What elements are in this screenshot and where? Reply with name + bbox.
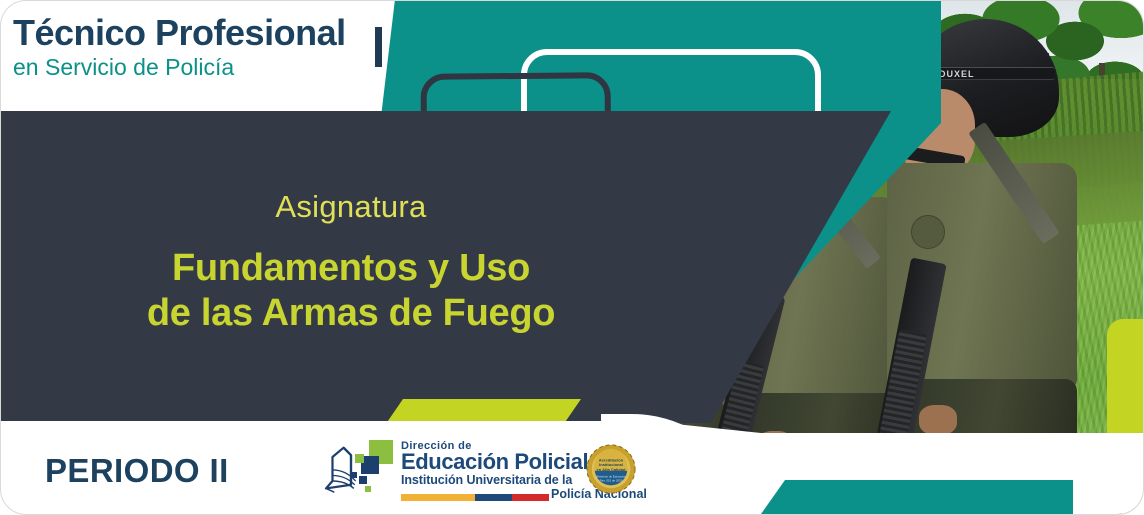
shoulder-patch-front <box>911 215 945 249</box>
hand-front <box>919 405 957 435</box>
program-subtitle: en Servicio de Policía <box>13 54 433 82</box>
logo-square-navy-tiny <box>351 472 357 478</box>
logo-square-lime-mid <box>355 454 364 463</box>
helmet-brand-front: DUXEL <box>939 69 975 79</box>
footer-corner-mask <box>1073 454 1143 514</box>
dep-logo: Dirección de Educación Policial Instituc… <box>323 438 653 500</box>
course-title-line-1: Fundamentos y Uso <box>1 246 701 291</box>
course-title: Fundamentos y Uso de las Armas de Fuego <box>1 246 701 336</box>
period-label: PERIODO II <box>45 452 229 490</box>
accreditation-seal-icon: Acreditación Institucional en Alta Calid… <box>585 442 637 496</box>
svg-text:Res. 015 de 2020: Res. 015 de 2020 <box>600 479 623 483</box>
seal-line-3: en Alta Calidad <box>597 467 627 472</box>
program-title: Técnico Profesional <box>13 15 433 52</box>
course-banner: DUXEL DUXEL <box>0 0 1144 515</box>
logo-square-navy-small <box>359 476 367 484</box>
footer-teal-strip <box>761 480 1121 514</box>
course-title-line-2: de las Armas de Fuego <box>1 291 701 336</box>
course-label: Asignatura <box>1 189 701 225</box>
program-header: Técnico Profesional en Servicio de Polic… <box>13 15 433 81</box>
colombia-flag-bar <box>401 494 549 501</box>
logo-square-lime-small <box>365 486 371 492</box>
